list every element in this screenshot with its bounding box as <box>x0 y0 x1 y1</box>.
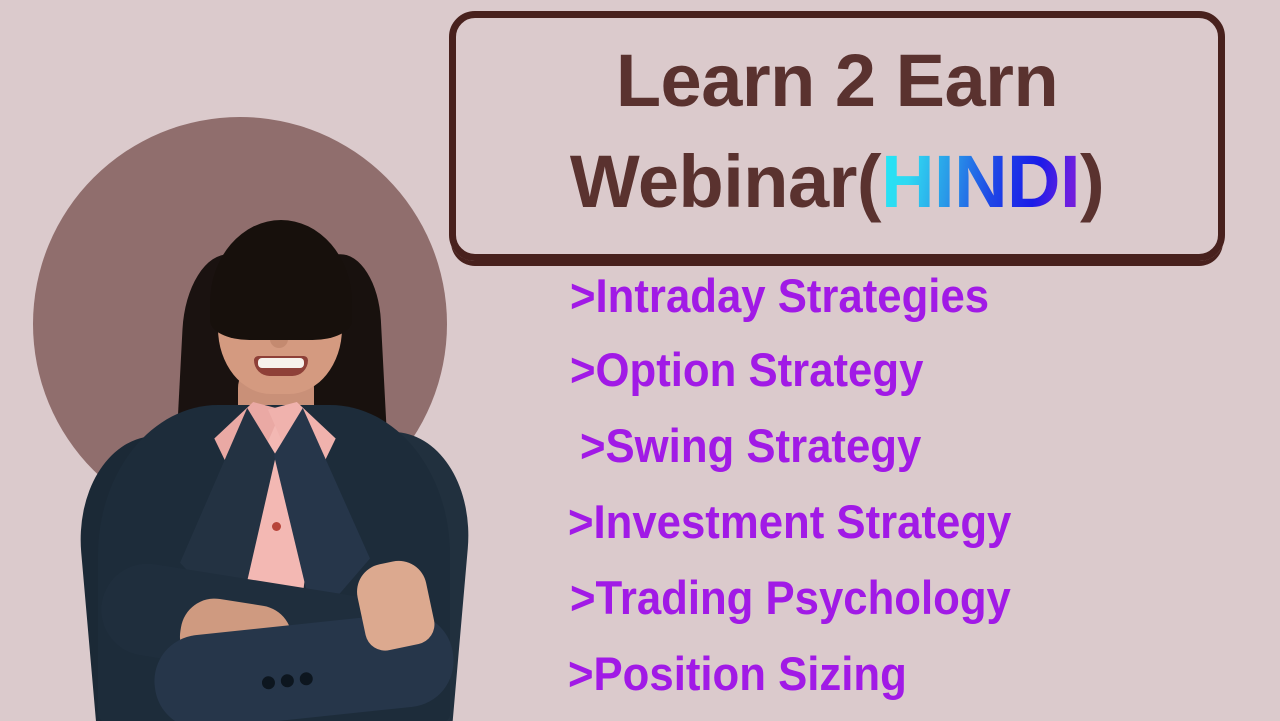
bullet-marker: > <box>570 343 596 396</box>
list-item-label: Intraday Strategies <box>596 269 990 322</box>
list-item: >Position Sizing <box>568 650 907 697</box>
shirt-button <box>272 522 281 531</box>
bullet-marker: > <box>568 495 594 548</box>
title-line-2-suffix: ) <box>1080 140 1104 223</box>
list-item-label: Option Strategy <box>596 343 924 396</box>
list-item-label: Trading Psychology <box>596 571 1011 624</box>
presenter-photo-block <box>0 0 520 721</box>
title-line-1: Learn 2 Earn <box>456 44 1218 118</box>
webinar-poster: Learn 2 Earn Webinar(HINDI) >Intraday St… <box>0 0 1280 721</box>
bullet-marker: > <box>580 419 606 472</box>
list-item-label: Position Sizing <box>594 647 907 700</box>
mouth <box>254 356 308 376</box>
title-frame: Learn 2 Earn Webinar(HINDI) <box>449 11 1225 261</box>
bullet-marker: > <box>568 647 594 700</box>
list-item: >Investment Strategy <box>568 498 1011 545</box>
list-item-label: Swing Strategy <box>606 419 922 472</box>
bullet-marker: > <box>570 571 596 624</box>
bullet-marker: > <box>570 269 596 322</box>
list-item-label: Investment Strategy <box>594 495 1012 548</box>
teeth <box>258 358 304 368</box>
list-item: >Option Strategy <box>570 346 923 393</box>
list-item: >Trading Psychology <box>570 574 1011 621</box>
topics-list: >Intraday Strategies >Option Strategy >S… <box>566 268 1266 718</box>
title-line-2: Webinar(HINDI) <box>456 145 1218 219</box>
list-item: >Swing Strategy <box>580 422 921 469</box>
title-line-2-prefix: Webinar( <box>570 140 881 223</box>
list-item: >Intraday Strategies <box>570 272 989 319</box>
hair-top <box>210 220 352 340</box>
presenter-figure <box>60 150 500 721</box>
title-hindi-highlight: HINDI <box>881 140 1080 223</box>
